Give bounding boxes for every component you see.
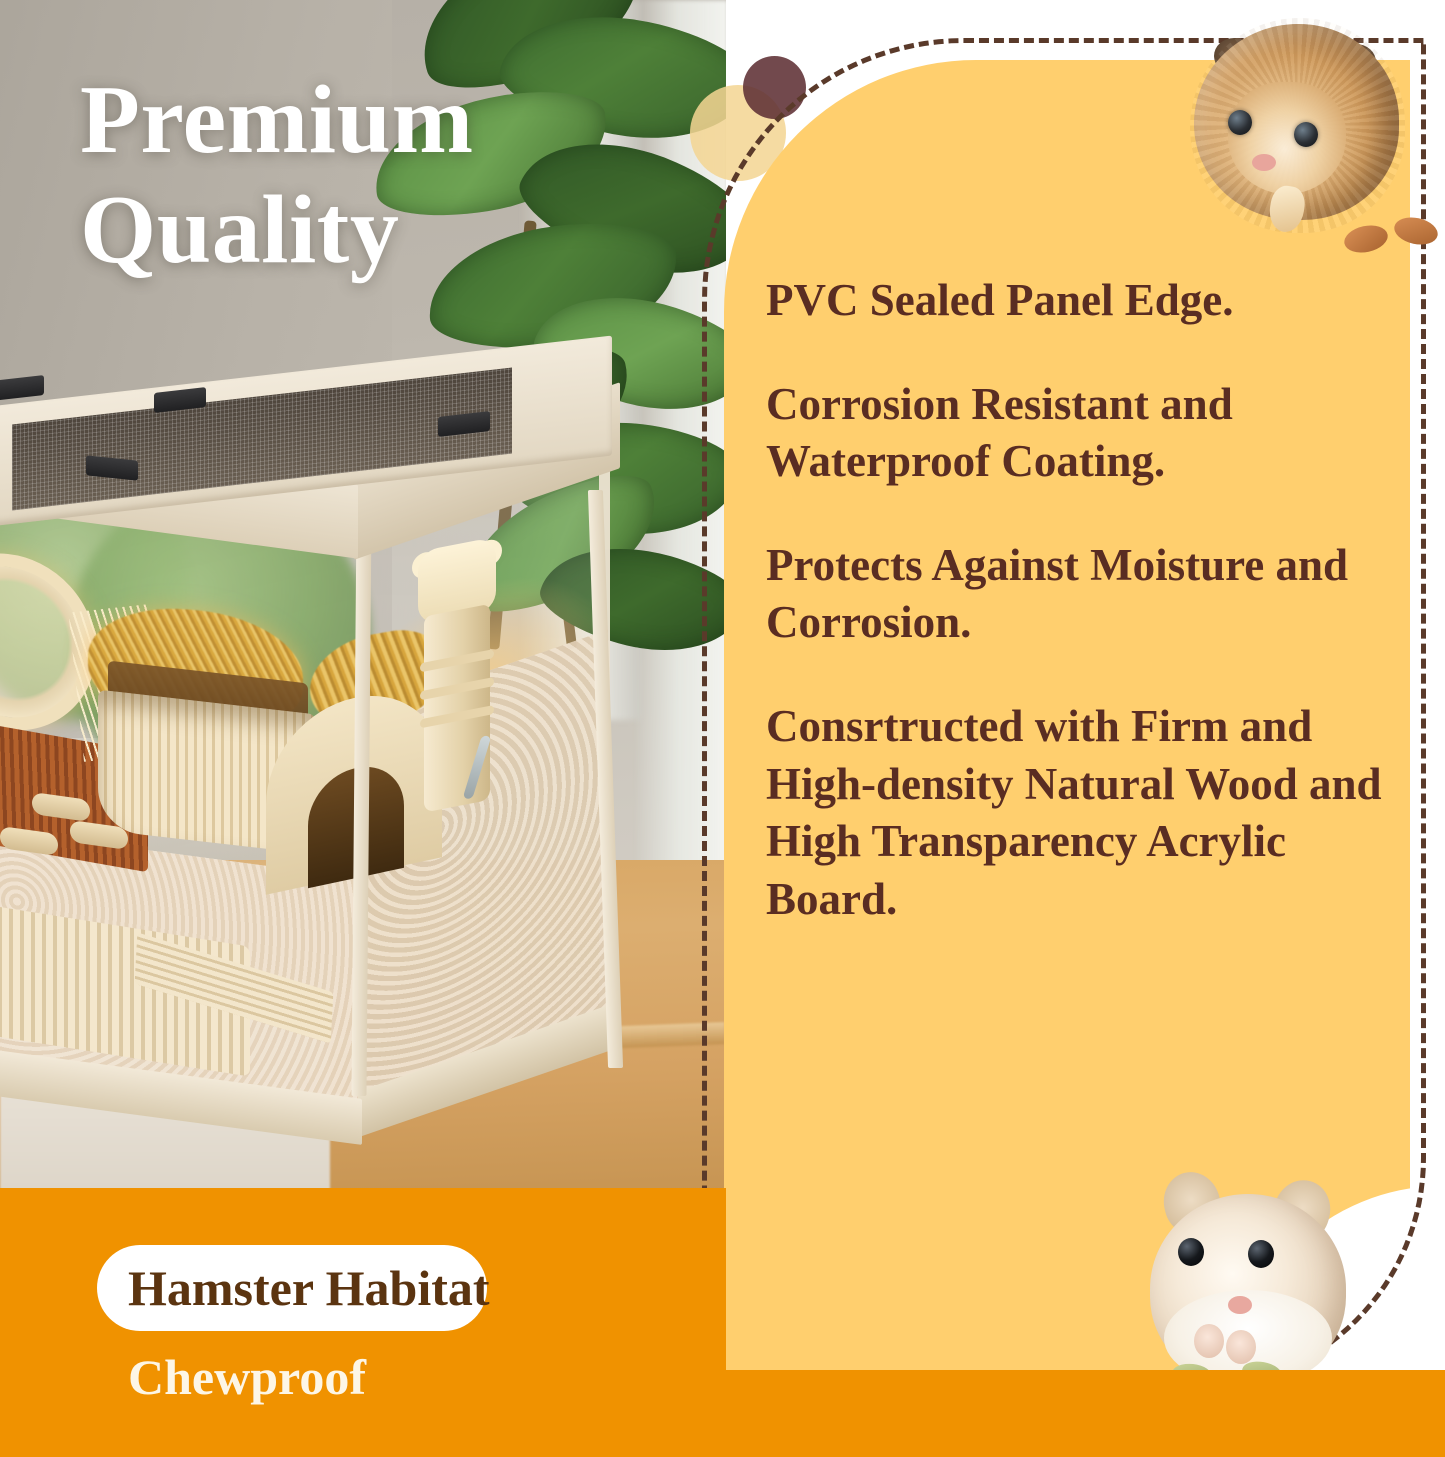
title-line-1: Premium bbox=[80, 66, 700, 176]
decor-circle-maroon bbox=[743, 56, 806, 119]
water-bottle-bear bbox=[410, 535, 506, 834]
lid-hinge bbox=[0, 375, 44, 401]
hamster-bottom-photo bbox=[1142, 1172, 1360, 1400]
features-list: PVC Sealed Panel Edge. Corrosion Resista… bbox=[766, 272, 1426, 928]
feature-item: Consrtructed with Firm and High-density … bbox=[766, 698, 1426, 928]
poster-canvas: Premium Quality PVC Sealed Panel Edge. C… bbox=[0, 0, 1445, 1457]
badge-title: Hamster Habitat bbox=[128, 1253, 688, 1323]
bottom-orange-band-right bbox=[726, 1370, 1445, 1457]
feature-item: Protects Against Moisture and Corrosion. bbox=[766, 537, 1426, 652]
badge-subtitle: Chewproof bbox=[128, 1346, 688, 1408]
title-line-2: Quality bbox=[80, 176, 700, 286]
feature-item: Corrosion Resistant and Waterproof Coati… bbox=[766, 376, 1426, 491]
hamster-habitat-cage bbox=[0, 372, 648, 1190]
hamster-top-photo bbox=[1190, 18, 1405, 233]
page-title: Premium Quality bbox=[80, 66, 700, 286]
feature-item: PVC Sealed Panel Edge. bbox=[766, 272, 1426, 330]
